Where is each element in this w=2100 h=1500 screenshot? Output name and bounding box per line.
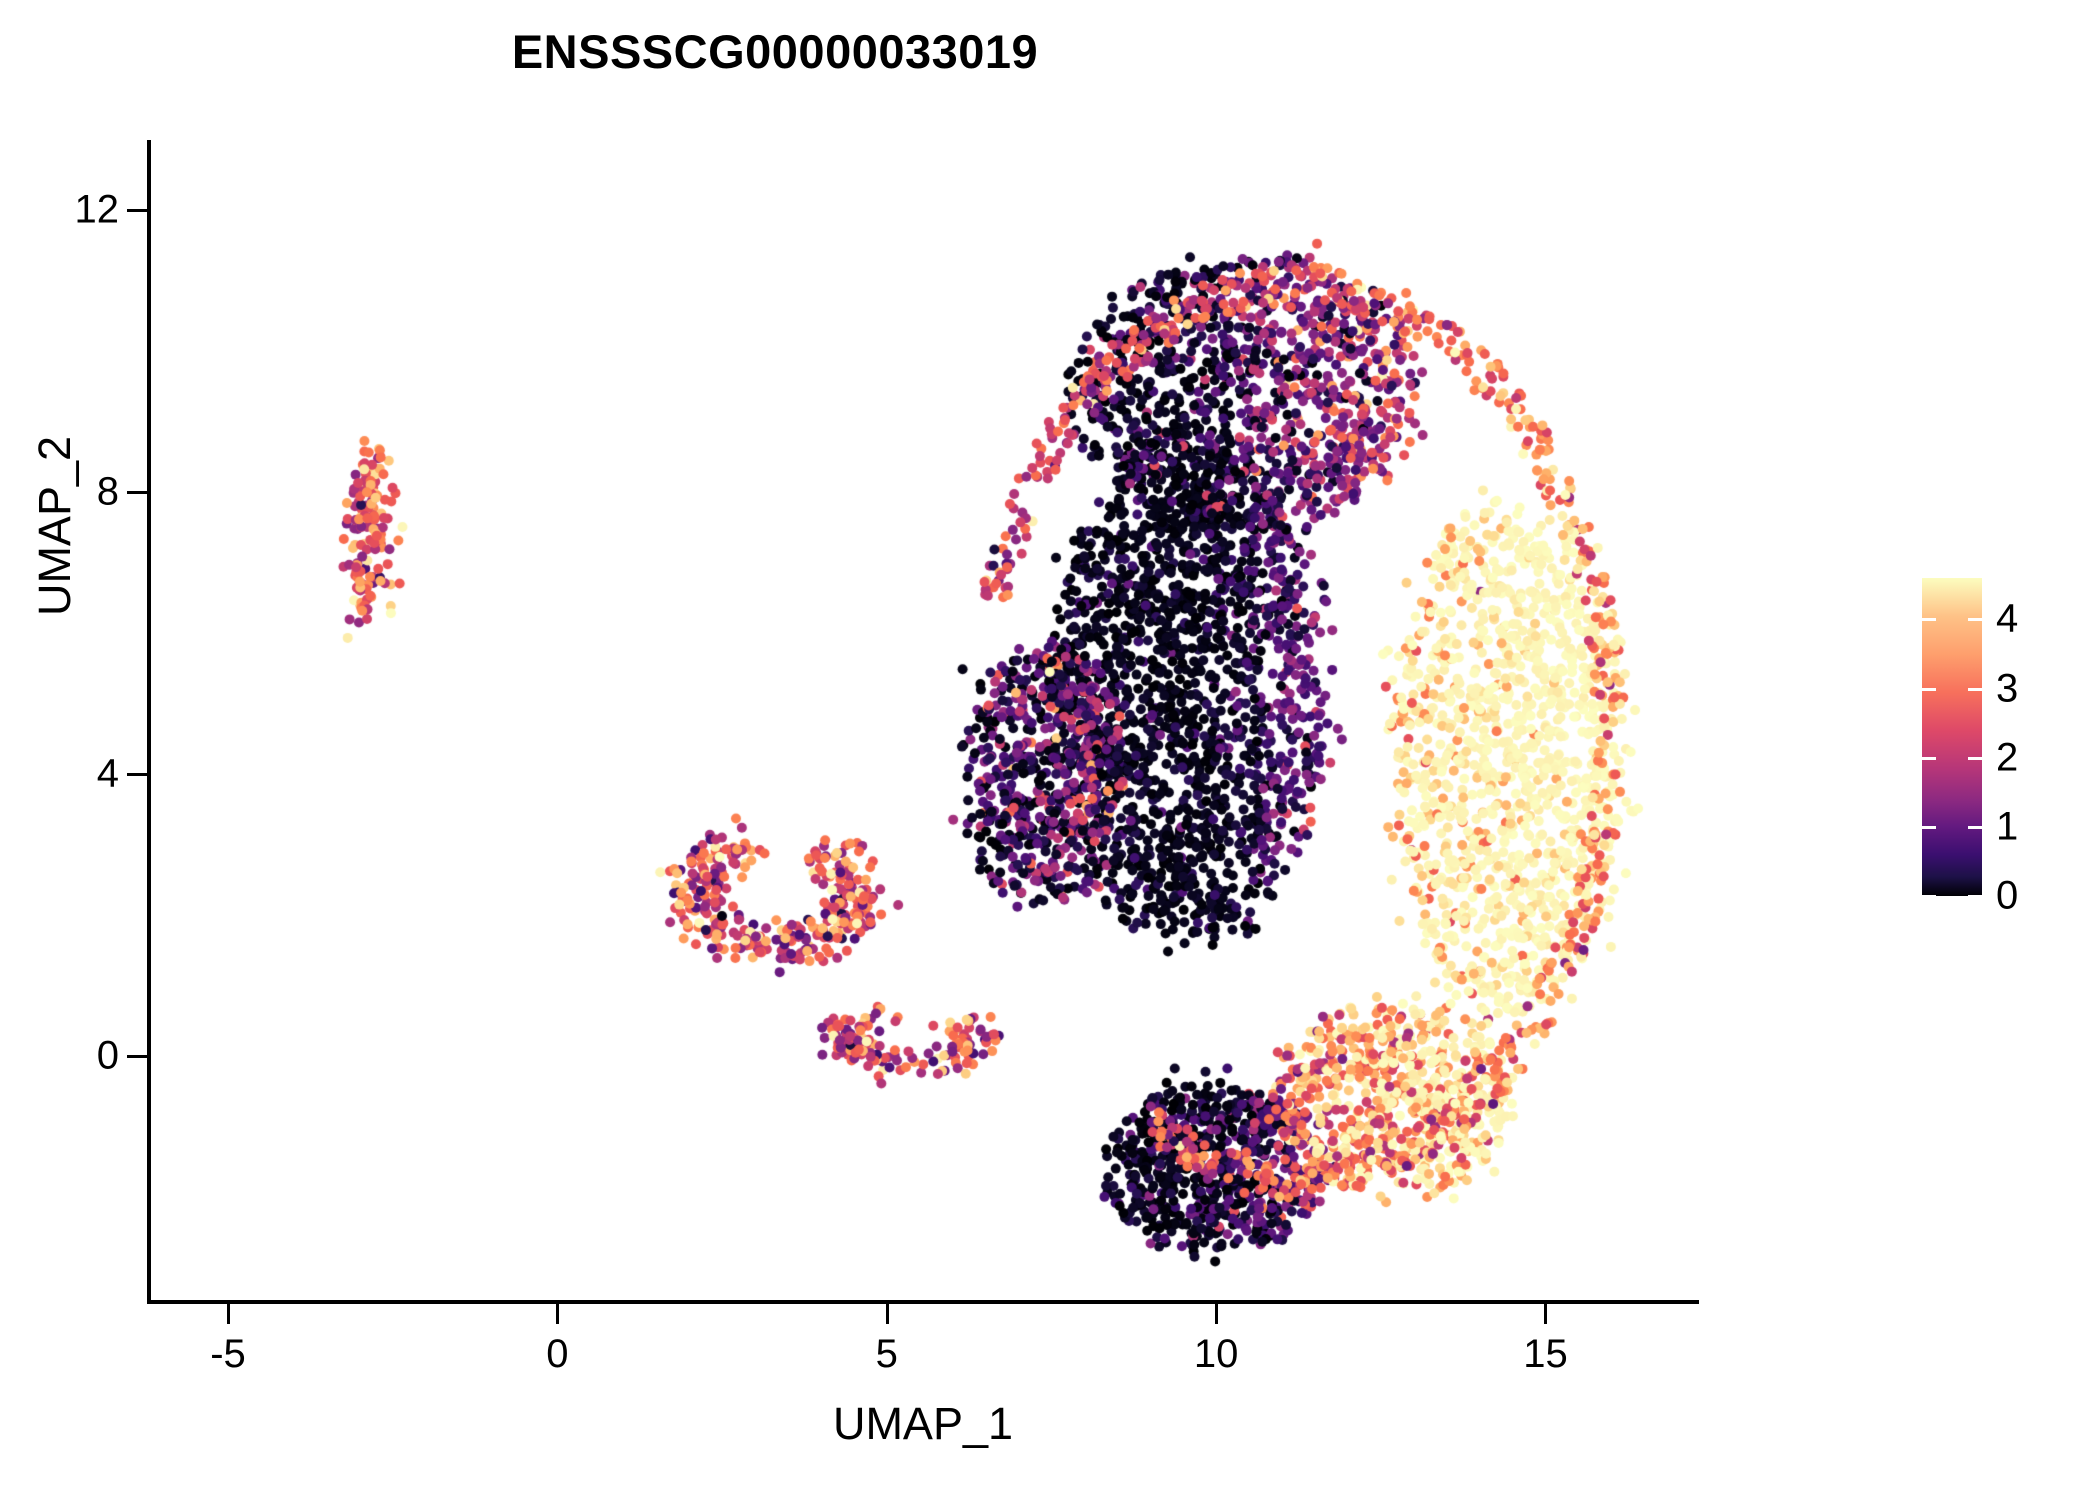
colorbar-tick-label: 4 <box>1996 597 2066 642</box>
colorbar-tick-label: 0 <box>1996 874 2066 919</box>
y-tick-label: 4 <box>19 751 119 796</box>
x-axis-line <box>147 1300 1699 1304</box>
colorbar-tick-mark <box>1922 688 1982 691</box>
y-tick-mark <box>127 1055 147 1058</box>
scatter-plot-panel <box>149 140 1697 1302</box>
colorbar-tick-mark <box>1922 895 1982 898</box>
colorbar-tick-mark <box>1922 757 1982 760</box>
scatter-points-layer <box>149 140 1697 1302</box>
x-tick-mark <box>886 1304 889 1324</box>
x-tick-label: 0 <box>477 1332 637 1377</box>
y-tick-mark <box>127 491 147 494</box>
colorbar-gradient <box>1922 578 1982 896</box>
chart-root: ENSSSCG00000033019 04812 -5051015 UMAP_2… <box>0 0 2100 1500</box>
colorbar-legend: 01234 <box>1922 578 2100 898</box>
colorbar-tick-label: 2 <box>1996 735 2066 780</box>
colorbar-tick-mark <box>1922 618 1982 621</box>
y-axis-line <box>147 140 151 1304</box>
colorbar-tick-label: 1 <box>1996 804 2066 849</box>
page-title: ENSSSCG00000033019 <box>0 24 1550 79</box>
x-tick-mark <box>1215 1304 1218 1324</box>
x-tick-label: 5 <box>807 1332 967 1377</box>
y-tick-label: 0 <box>19 1033 119 1078</box>
x-tick-label: 10 <box>1136 1332 1296 1377</box>
colorbar-tick-label: 3 <box>1996 666 2066 711</box>
y-tick-mark <box>127 773 147 776</box>
colorbar-tick-mark <box>1922 826 1982 829</box>
y-tick-mark <box>127 209 147 212</box>
y-tick-label: 12 <box>19 188 119 233</box>
x-tick-mark <box>227 1304 230 1324</box>
x-tick-label: 15 <box>1465 1332 1625 1377</box>
x-tick-label: -5 <box>148 1332 308 1377</box>
x-axis-title: UMAP_1 <box>149 1398 1697 1450</box>
x-tick-mark <box>556 1304 559 1324</box>
x-tick-mark <box>1544 1304 1547 1324</box>
y-axis-title: UMAP_2 <box>29 366 81 686</box>
